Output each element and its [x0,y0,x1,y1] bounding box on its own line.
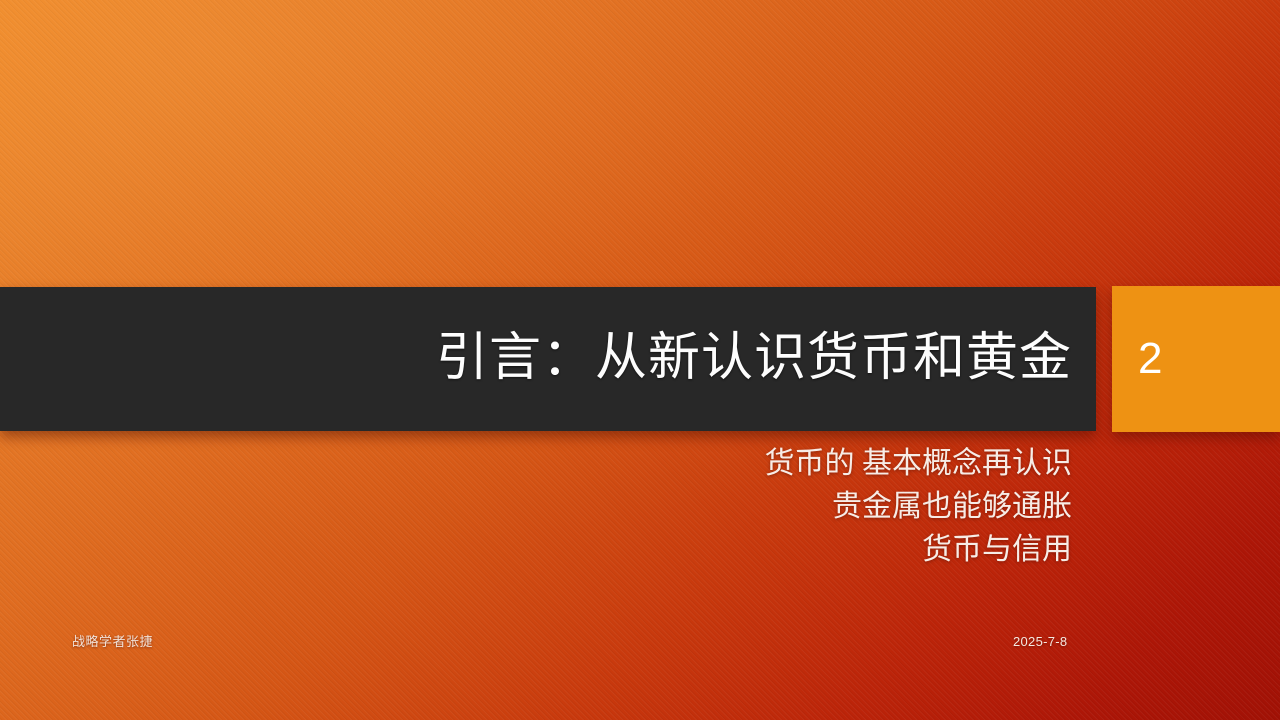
presentation-slide: 引言：从新认识货币和黄金 2 货币的 基本概念再认识 贵金属也能够通胀 货币与信… [0,0,1280,720]
subtitle-line-1: 货币的 基本概念再认识 [452,442,1072,485]
subtitle-line-3: 货币与信用 [452,528,1072,571]
page-number-box: 2 [1112,286,1280,432]
subtitle-block: 货币的 基本概念再认识 贵金属也能够通胀 货币与信用 [452,442,1072,571]
slide-title: 引言：从新认识货币和黄金 [436,332,1072,387]
page-number: 2 [1138,337,1162,381]
footer-author: 战略学者张捷 [72,633,153,651]
subtitle-line-2: 贵金属也能够通胀 [452,485,1072,528]
title-band: 引言：从新认识货币和黄金 [0,287,1096,431]
footer-date: 2025-7-8 [1013,633,1067,651]
